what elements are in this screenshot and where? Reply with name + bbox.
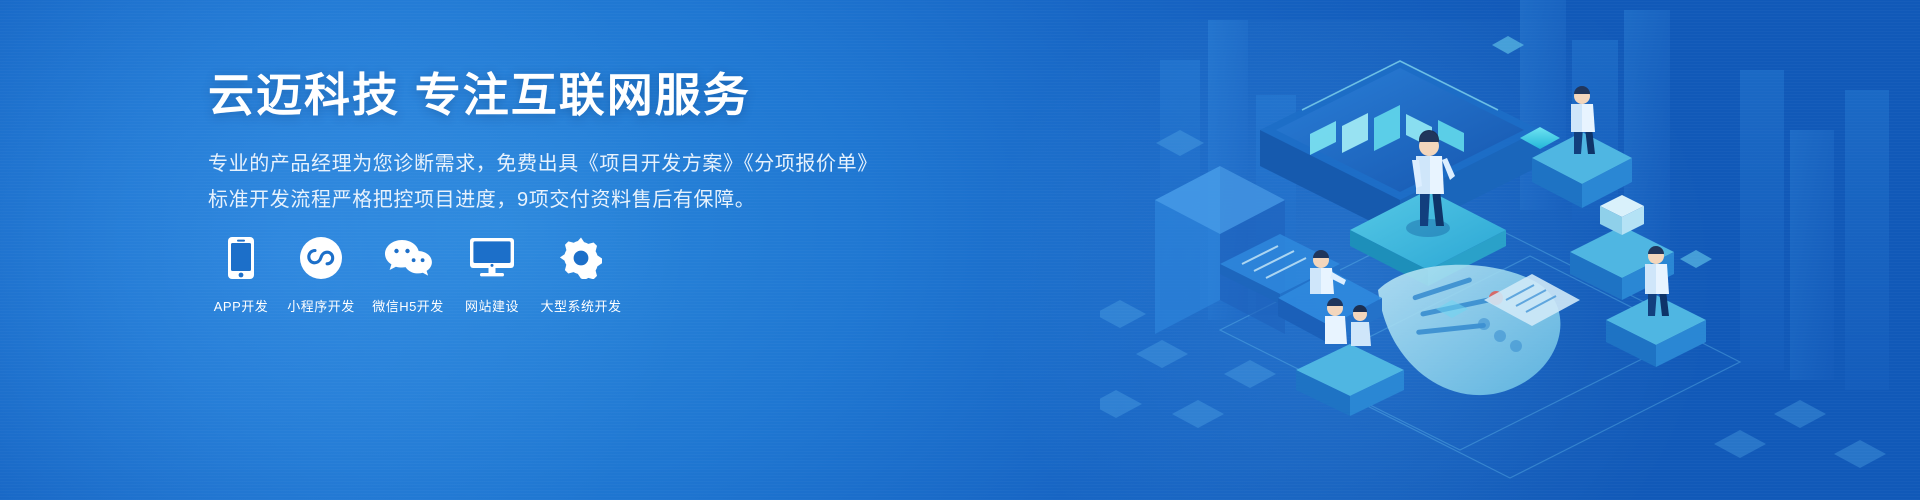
service-label: 大型系统开发	[540, 296, 621, 315]
service-item-large-system[interactable]: 大型系统开发	[533, 232, 629, 315]
service-list: APP开发 小程序开发 微信	[205, 232, 630, 315]
gear-icon	[560, 232, 602, 284]
hero-copy: 云迈科技 专注互联网服务 专业的产品经理为您诊断需求，免费出具《项目开发方案》《…	[208, 68, 878, 217]
page-title: 云迈科技 专注互联网服务	[208, 68, 878, 122]
hero-banner: 云迈科技 专注互联网服务 专业的产品经理为您诊断需求，免费出具《项目开发方案》《…	[0, 0, 1920, 500]
wechat-icon	[384, 232, 432, 284]
service-item-app[interactable]: APP开发	[205, 232, 277, 315]
service-item-wechat-h5[interactable]: 微信H5开发	[365, 232, 451, 315]
service-label: 微信H5开发	[372, 296, 444, 315]
service-item-website[interactable]: 网站建设	[452, 232, 532, 315]
service-label: APP开发	[214, 296, 269, 315]
service-label: 网站建设	[465, 296, 519, 315]
hero-subtitle-line-2: 标准开发流程严格把控项目进度，9项交付资料售后有保障。	[208, 184, 878, 218]
service-item-mini-program[interactable]: 小程序开发	[278, 232, 364, 315]
mobile-phone-icon	[228, 232, 254, 284]
isometric-illustration	[1100, 0, 1920, 500]
monitor-icon	[470, 232, 514, 284]
hero-subtitle-line-1: 专业的产品经理为您诊断需求，免费出具《项目开发方案》《分项报价单》	[208, 148, 878, 182]
service-label: 小程序开发	[287, 296, 355, 315]
mini-program-icon	[300, 232, 342, 284]
